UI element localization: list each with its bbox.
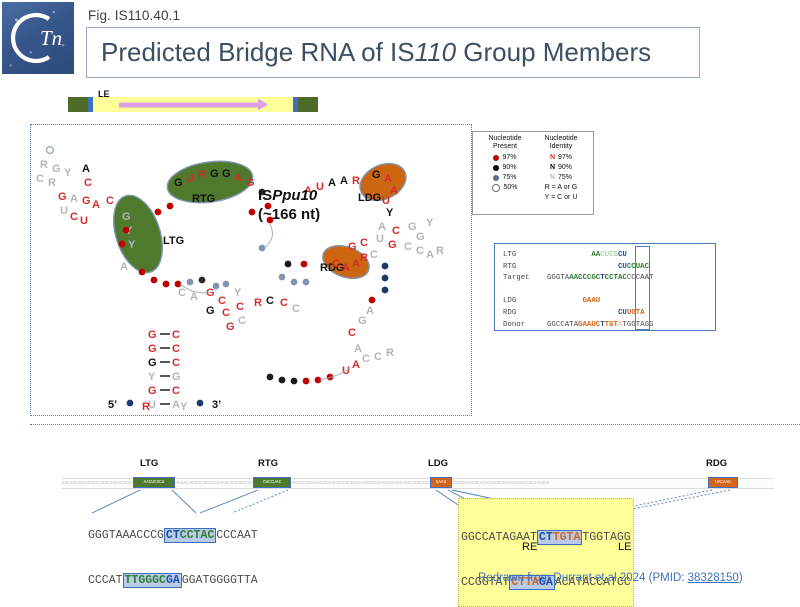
le-label-bottom: LE (618, 541, 631, 553)
donor-top-strand: GGCCATAGAATCTTGTATGGTAGG (461, 530, 631, 545)
title-pre: Predicted Bridge RNA of IS (101, 37, 415, 67)
rtg-seq: CUCCUAC (547, 263, 649, 271)
rdg-seq: CUUGTA (547, 309, 645, 317)
ltg-label: LTG (163, 235, 184, 247)
title-post: Group Members (456, 37, 651, 67)
genome-label-ldg: LDG (428, 458, 448, 469)
svg-text:C: C (280, 297, 288, 309)
svg-text:C: C (392, 225, 400, 237)
genome-label-ltg: LTG (140, 458, 158, 469)
alignment-spacer (503, 285, 715, 297)
svg-text:R: R (254, 297, 262, 309)
svg-text:C: C (172, 329, 180, 341)
svg-text:C: C (266, 295, 274, 307)
svg-text:U: U (376, 233, 384, 245)
rna-stem: GC GC GC YG GC UA (148, 329, 181, 411)
legend-box: Nucleotide Present Nucleotide Identity 9… (472, 131, 594, 215)
svg-text:G: G (172, 371, 181, 383)
svg-text:U: U (60, 205, 68, 217)
svg-text:C: C (360, 237, 368, 249)
alignment-row: LDG GAAU (503, 296, 715, 308)
svg-text:U: U (186, 173, 194, 185)
svg-text:G: G (210, 168, 219, 180)
svg-text:G: G (52, 163, 61, 175)
re-label: RE (522, 541, 537, 553)
svg-text:A: A (390, 185, 398, 197)
svg-text:A: A (352, 258, 360, 270)
svg-text:A: A (366, 305, 374, 317)
presence-dot-75-icon (493, 175, 499, 181)
svg-text:A: A (328, 177, 336, 189)
svg-text:R: R (198, 169, 206, 181)
three-prime-label: 3’ (212, 399, 221, 411)
svg-text:R: R (360, 252, 368, 264)
svg-text:A: A (354, 343, 362, 355)
bridge-rna-diagram: .L{font-family:"Liberation Sans",sans-se… (30, 124, 470, 419)
five-prime-label: 5’ (108, 399, 117, 411)
svg-text:A: A (234, 172, 242, 184)
svg-text:G: G (148, 385, 157, 397)
svg-text:G: G (416, 231, 425, 243)
svg-text:C: C (370, 249, 378, 261)
svg-text:G: G (222, 168, 231, 180)
svg-text:A: A (172, 399, 180, 411)
element-body (93, 97, 293, 112)
element-left-flank (68, 97, 88, 112)
organism-prefix: IS (258, 187, 272, 204)
target-top-strand: GGGTAAACCCGCTCCTACCCCAAT (88, 528, 258, 543)
svg-text:Y: Y (234, 287, 242, 299)
svg-text:A: A (384, 173, 392, 185)
svg-text:C: C (404, 241, 412, 253)
svg-text:G: G (348, 241, 357, 253)
ltg-loop-ellipse (105, 189, 172, 279)
svg-text:Y: Y (128, 239, 136, 251)
svg-text:U: U (382, 195, 390, 207)
svg-text:Y: Y (386, 207, 394, 219)
legend-presence-column: 97% 90% 75% 50% (477, 153, 533, 203)
target-sequence-block: GGGTAAACCCGCTCCTACCCCAAT CCCATTTGGGCGAGG… (88, 498, 258, 603)
svg-text:G: G (206, 305, 215, 317)
svg-text:R: R (436, 245, 444, 257)
svg-text:C: C (236, 301, 244, 313)
legend-col1-title: Nucleotide Present (477, 135, 533, 151)
ldg-label: LDG (358, 192, 381, 204)
legend-item: N97% (533, 153, 589, 163)
citation-text: Redrawn from Durrant et al 2024 (PMID: (478, 572, 688, 584)
legend-item: 90% (477, 163, 533, 173)
presence-dot-90-icon (493, 165, 499, 171)
legend-item: 50% (477, 183, 533, 193)
citation-suffix: ) (739, 572, 743, 584)
svg-text:G: G (372, 169, 381, 181)
svg-text:C: C (70, 211, 78, 223)
svg-text:A: A (92, 199, 100, 211)
svg-text:G: G (358, 315, 367, 327)
transposon-element-bar (68, 97, 318, 112)
svg-text:A: A (342, 262, 350, 274)
legend-identity-column: N97% N90% N75% R = A or G Y = C or U (533, 153, 589, 203)
svg-text:G: G (148, 343, 157, 355)
alignment-row: LTG AACUCGCU (503, 250, 715, 262)
presence-dot-50-icon (492, 184, 500, 192)
svg-text:U: U (80, 215, 88, 227)
genome-label-rdg: RDG (706, 458, 727, 469)
svg-text:A: A (352, 359, 360, 371)
legend-item: R = A or G (533, 183, 589, 193)
svg-text:C: C (178, 287, 186, 299)
genome-divider (30, 424, 800, 426)
ctn-logo: Tn (2, 2, 74, 74)
svg-text:G: G (388, 239, 397, 251)
svg-text:C: C (106, 195, 114, 207)
legend-item: Y = C or U (533, 193, 589, 203)
svg-text:G: G (226, 321, 235, 333)
svg-text:A: A (120, 261, 128, 273)
svg-text:Y: Y (426, 217, 434, 229)
title-box: Predicted Bridge RNA of IS110 Group Memb… (86, 27, 700, 78)
alignment-row: TargetGGGTAAACCCGCTCCTACCCCAAT (503, 273, 715, 285)
svg-text:C: C (374, 351, 382, 363)
ldg-seq: GAAU (547, 297, 600, 305)
alignment-box: LTG AACUCGCU RTG CUCCUAC TargetGGGTAAACC… (494, 243, 716, 331)
organism-name: Ppu10 (272, 187, 317, 204)
title-italic: 110 (415, 37, 456, 67)
presence-dot-97-icon (493, 155, 499, 161)
svg-text:G: G (148, 357, 157, 369)
figure-number: Fig. IS110.40.1 (88, 8, 180, 23)
pmid-link[interactable]: 38328150 (688, 572, 739, 584)
svg-text:R: R (386, 347, 394, 359)
svg-text:Y: Y (148, 371, 156, 383)
svg-text:C: C (172, 385, 180, 397)
svg-text:G: G (82, 195, 91, 207)
legend-item: N75% (533, 173, 589, 183)
svg-text:R: R (48, 177, 56, 189)
logo-text: Tn (40, 26, 62, 50)
svg-text:C: C (222, 307, 230, 319)
svg-text:C: C (348, 327, 356, 339)
svg-text:A: A (426, 249, 434, 261)
svg-text:C: C (36, 173, 44, 185)
svg-text:G: G (174, 177, 183, 189)
svg-text:C: C (292, 303, 300, 315)
svg-text:R: R (142, 401, 150, 413)
svg-text:C: C (84, 177, 92, 189)
alignment-row: RDG CUUGTA (503, 308, 715, 320)
svg-text:Y: Y (64, 167, 72, 179)
element-right-flank (298, 97, 318, 112)
svg-text:A: A (340, 175, 348, 187)
svg-text:C: C (172, 343, 180, 355)
svg-text:G: G (206, 287, 215, 299)
svg-text:A: A (378, 221, 386, 233)
svg-text:C: C (172, 357, 180, 369)
rtg-label: RTG (192, 193, 215, 205)
svg-text:G: G (148, 329, 157, 341)
svg-text:R: R (40, 159, 48, 171)
legend-col2-title: Nucleotide Identity (533, 135, 589, 151)
page-title: Predicted Bridge RNA of IS110 Group Memb… (87, 37, 651, 68)
orf-arrow-icon (119, 102, 259, 107)
donor-sequence-block: GGCCATAGAATCTTGTATGGTAGG CCGGTATCTTAGAAC… (458, 498, 634, 607)
svg-text:C: C (416, 245, 424, 257)
legend-item: 97% (477, 153, 533, 163)
svg-text:C: C (332, 258, 340, 270)
svg-text:Y: Y (180, 401, 188, 413)
genome-label-rtg: RTG (258, 458, 278, 469)
svg-text:C: C (238, 315, 246, 327)
ltg-seq: AACUCGCU (547, 251, 627, 259)
svg-text:G: G (58, 191, 67, 203)
svg-text:G: G (246, 177, 255, 189)
svg-text:C: C (362, 353, 370, 365)
alignment-row: RTG CUCCUAC (503, 262, 715, 274)
legend-item: N90% (533, 163, 589, 173)
alignment-highlight-box (635, 246, 650, 330)
rna-length-label: (~166 nt) (258, 206, 320, 223)
svg-text:G: G (122, 211, 131, 223)
citation-footer: Redrawn from Durrant et al 2024 (PMID: 3… (478, 572, 743, 584)
alignment-row: DonorGGCCATAGAAUCTTGTATGGTAGG (503, 320, 715, 332)
svg-text:R: R (352, 175, 360, 187)
svg-text:A: A (70, 193, 78, 205)
svg-text:C: C (218, 295, 226, 307)
svg-text:A: A (82, 163, 90, 175)
organism-label: ISPpu10 (258, 187, 317, 204)
target-bottom-strand: CCCATTTGGGCGAGGATGGGGTTA (88, 573, 258, 588)
svg-text:A: A (190, 291, 198, 303)
legend-item: 75% (477, 173, 533, 183)
